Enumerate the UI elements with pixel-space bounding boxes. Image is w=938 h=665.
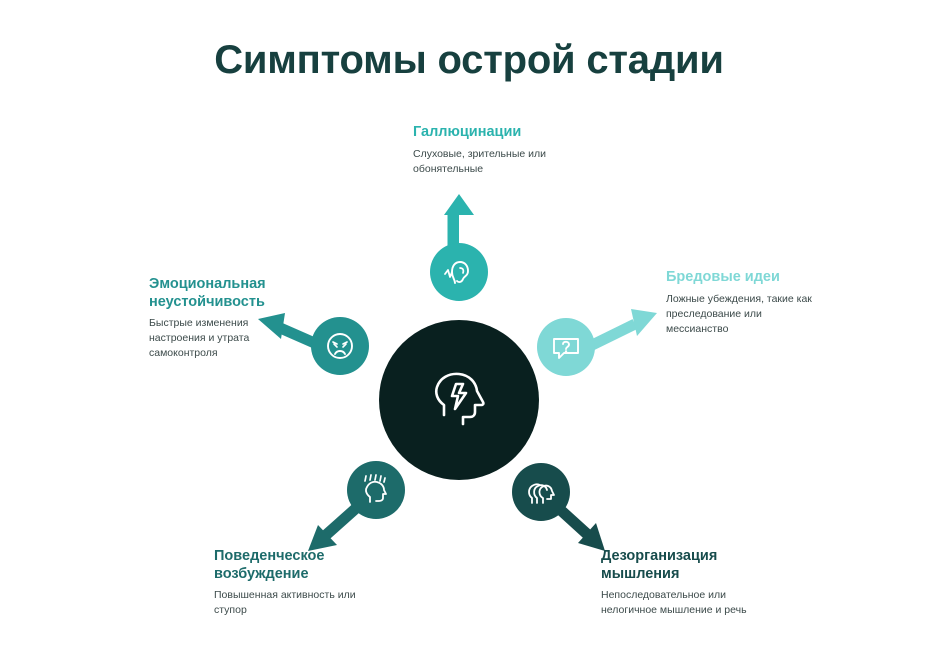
- node-text-emotional: Эмоциональная неустойчивость Быстрые изм…: [149, 276, 284, 361]
- multiple-heads-icon: [524, 475, 558, 509]
- speech-bubble-question-icon: [549, 330, 583, 364]
- node-icon-disorganization[interactable]: [512, 463, 570, 521]
- node-text-behavioral: Поведенческое возбуждение Повышенная акт…: [214, 548, 364, 618]
- node-heading-emotional: Эмоциональная неустойчивость: [149, 276, 284, 311]
- node-heading-hallucinations: Галлюцинации: [413, 124, 583, 142]
- node-heading-behavioral: Поведенческое возбуждение: [214, 548, 364, 583]
- node-icon-emotional[interactable]: [311, 317, 369, 375]
- node-description-disorganization: Непоследовательное или нелогичное мышлен…: [601, 588, 761, 618]
- sad-face-icon: [323, 329, 357, 363]
- ear-soundwave-icon: [442, 255, 476, 289]
- node-icon-delusions[interactable]: [537, 318, 595, 376]
- node-text-hallucinations: Галлюцинации Слуховые, зрительные или об…: [413, 124, 583, 177]
- node-description-hallucinations: Слуховые, зрительные или обонятельные: [413, 147, 583, 177]
- node-description-delusions: Ложные убеждения, такие как преследовани…: [666, 292, 826, 337]
- node-text-disorganization: Дезорганизация мышления Непоследовательн…: [601, 548, 761, 618]
- node-heading-delusions: Бредовые идеи: [666, 269, 826, 287]
- head-lightning-icon: [422, 363, 496, 437]
- center-node: [379, 320, 539, 480]
- node-description-emotional: Быстрые изменения настроения и утрата са…: [149, 316, 284, 361]
- page-title: Симптомы острой стадии: [0, 38, 938, 83]
- node-icon-hallucinations[interactable]: [430, 243, 488, 301]
- head-sparks-icon: [359, 473, 393, 507]
- node-heading-disorganization: Дезорганизация мышления: [601, 548, 761, 583]
- node-icon-behavioral[interactable]: [347, 461, 405, 519]
- node-description-behavioral: Повышенная активность или ступор: [214, 588, 364, 618]
- infographic-canvas: Симптомы острой стадии: [0, 0, 938, 665]
- node-text-delusions: Бредовые идеи Ложные убеждения, такие ка…: [666, 269, 826, 336]
